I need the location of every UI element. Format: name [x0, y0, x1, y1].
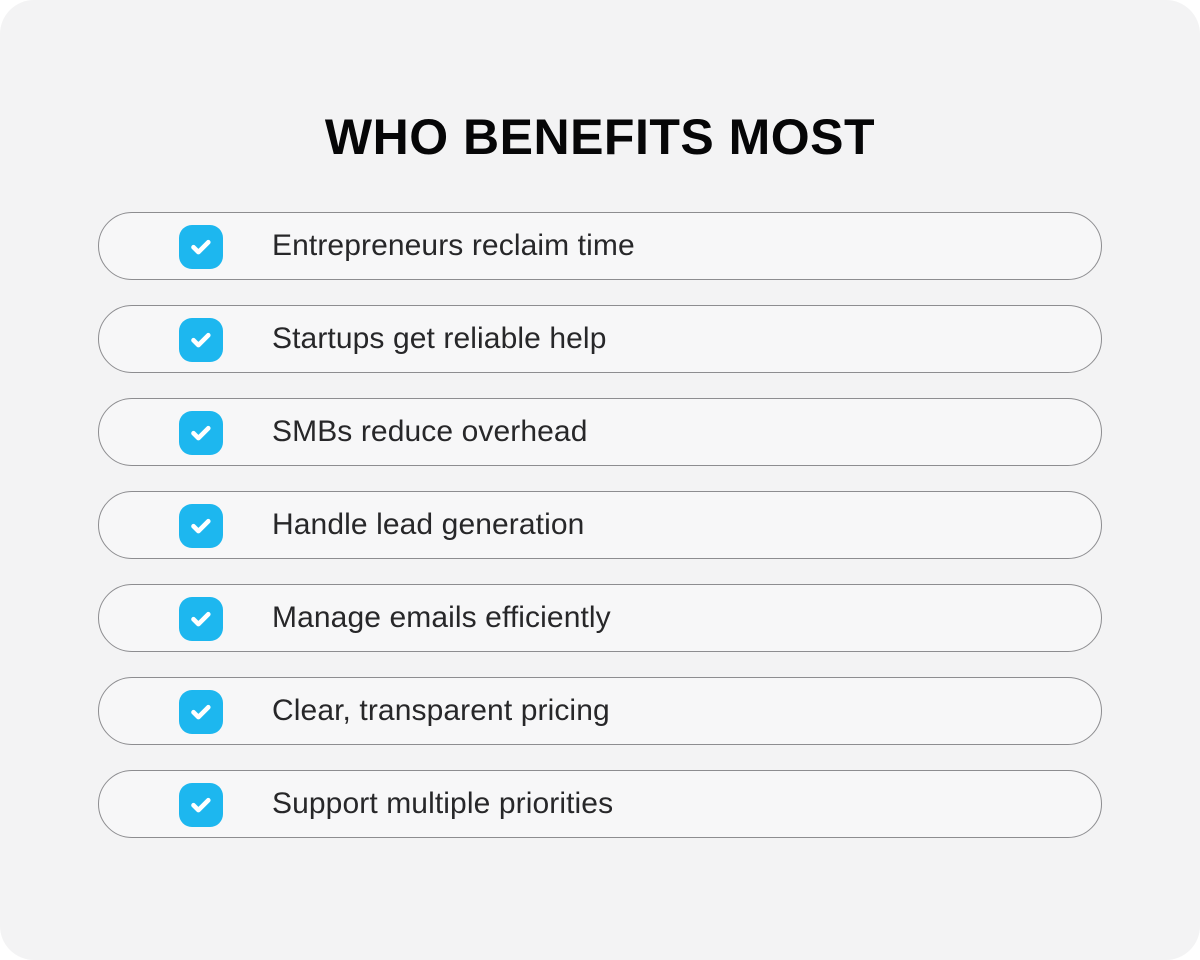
page-title: WHO BENEFITS MOST [0, 108, 1200, 166]
checkbox-checked[interactable] [179, 504, 223, 548]
list-item[interactable]: Clear, transparent pricing [98, 677, 1102, 745]
list-item-label: SMBs reduce overhead [272, 417, 588, 447]
checkmark-icon [186, 511, 216, 541]
list-item-label: Clear, transparent pricing [272, 696, 610, 726]
checkbox-checked[interactable] [179, 597, 223, 641]
checkmark-icon [186, 325, 216, 355]
checkbox-checked[interactable] [179, 783, 223, 827]
benefits-card: WHO BENEFITS MOST Entrepreneurs reclaim … [0, 0, 1200, 960]
checkbox-checked[interactable] [179, 690, 223, 734]
list-item[interactable]: Entrepreneurs reclaim time [98, 212, 1102, 280]
list-item-label: Support multiple priorities [272, 789, 613, 819]
list-item[interactable]: Manage emails efficiently [98, 584, 1102, 652]
list-item-label: Manage emails efficiently [272, 603, 611, 633]
checkmark-icon [186, 418, 216, 448]
list-item-label: Handle lead generation [272, 510, 584, 540]
list-item-label: Startups get reliable help [272, 324, 606, 354]
checkbox-checked[interactable] [179, 411, 223, 455]
list-item[interactable]: Handle lead generation [98, 491, 1102, 559]
checkmark-icon [186, 790, 216, 820]
checkbox-checked[interactable] [179, 225, 223, 269]
list-item[interactable]: Startups get reliable help [98, 305, 1102, 373]
checkbox-checked[interactable] [179, 318, 223, 362]
checkmark-icon [186, 604, 216, 634]
checkmark-icon [186, 232, 216, 262]
list-item-label: Entrepreneurs reclaim time [272, 231, 635, 261]
list-item[interactable]: Support multiple priorities [98, 770, 1102, 838]
benefits-checklist: Entrepreneurs reclaim time Startups get … [98, 212, 1102, 838]
list-item[interactable]: SMBs reduce overhead [98, 398, 1102, 466]
checkmark-icon [186, 697, 216, 727]
